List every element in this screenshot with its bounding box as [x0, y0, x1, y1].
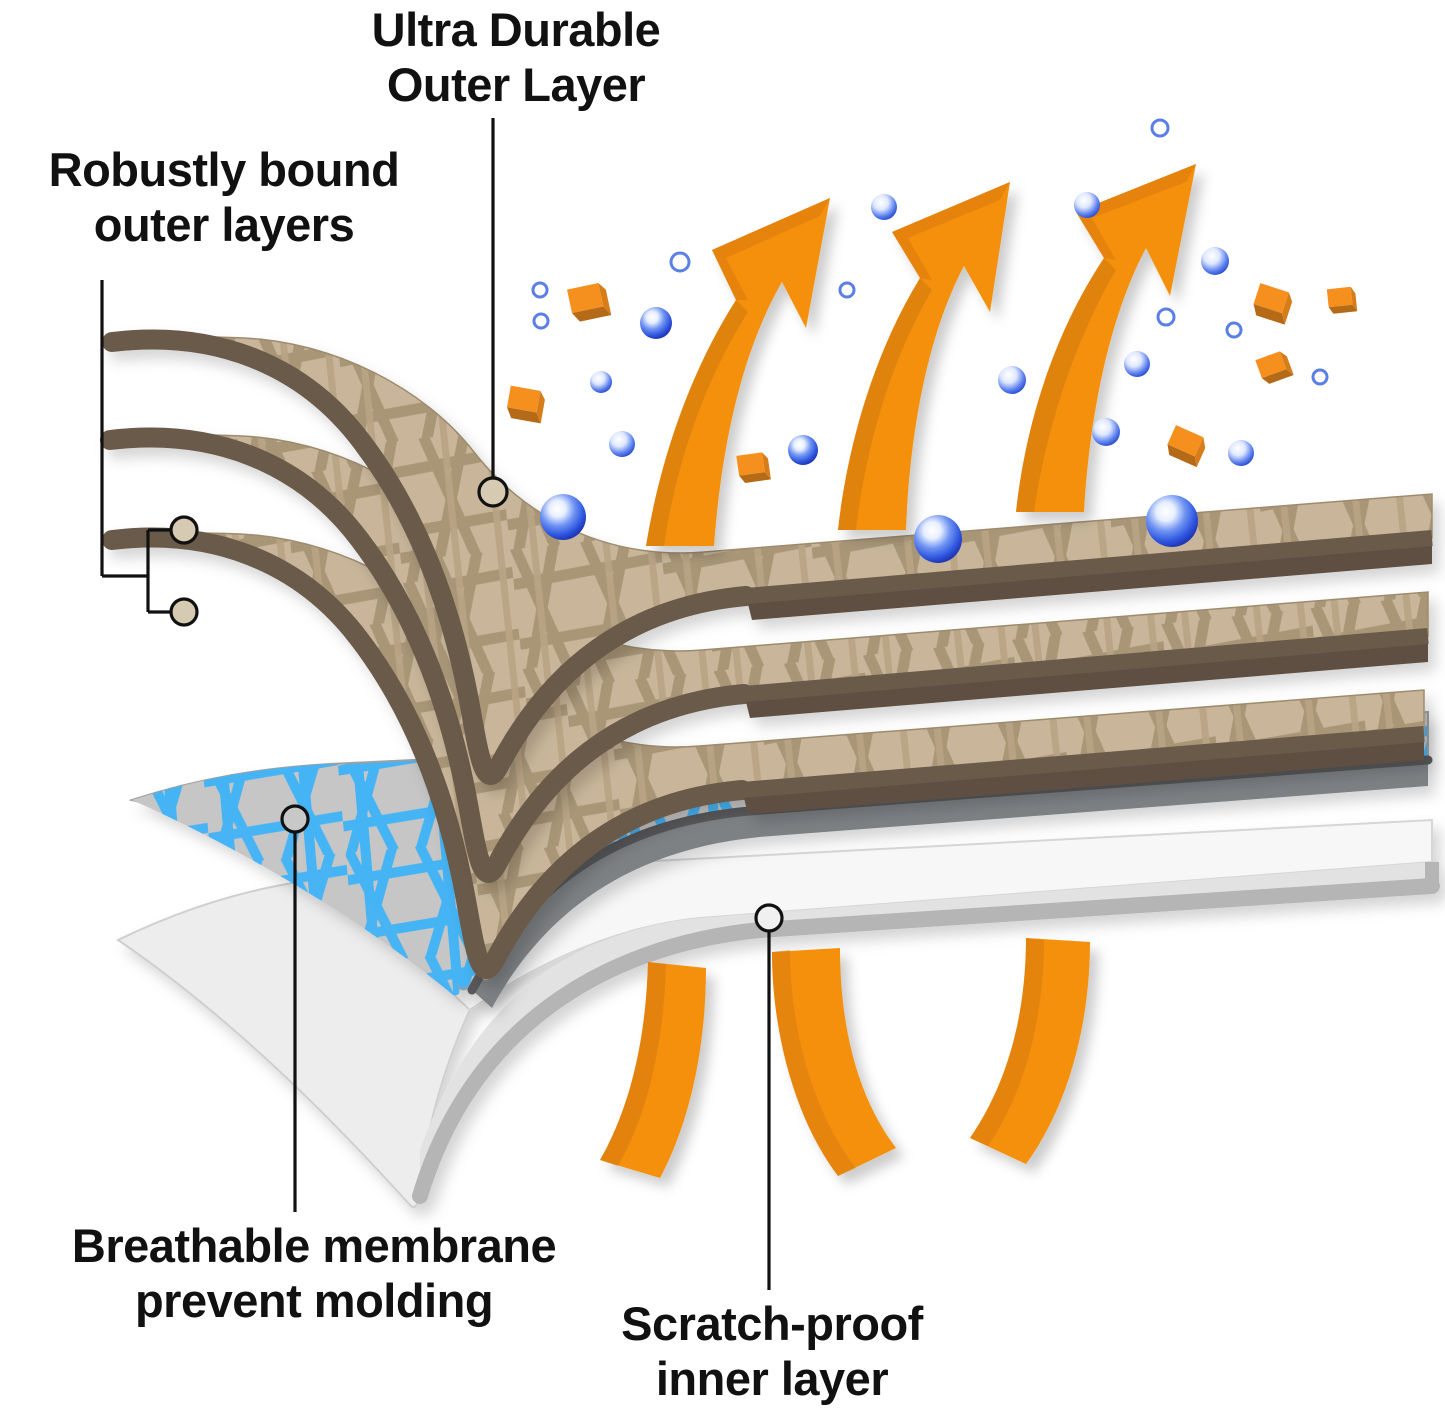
- label-breathable-membrane: Breathable membrane prevent molding: [0, 1218, 628, 1329]
- label-ultra-durable-outer-layer: Ultra Durable Outer Layer: [316, 2, 716, 113]
- diagram-canvas: Ultra Durable Outer Layer Robustly bound…: [0, 0, 1445, 1421]
- label-scratch-proof-inner-layer: Scratch-proof inner layer: [572, 1296, 972, 1407]
- dirt-cube: [505, 386, 546, 424]
- dirt-cube: [1327, 286, 1357, 314]
- label-robustly-bound-outer-layers: Robustly bound outer layers: [4, 142, 444, 253]
